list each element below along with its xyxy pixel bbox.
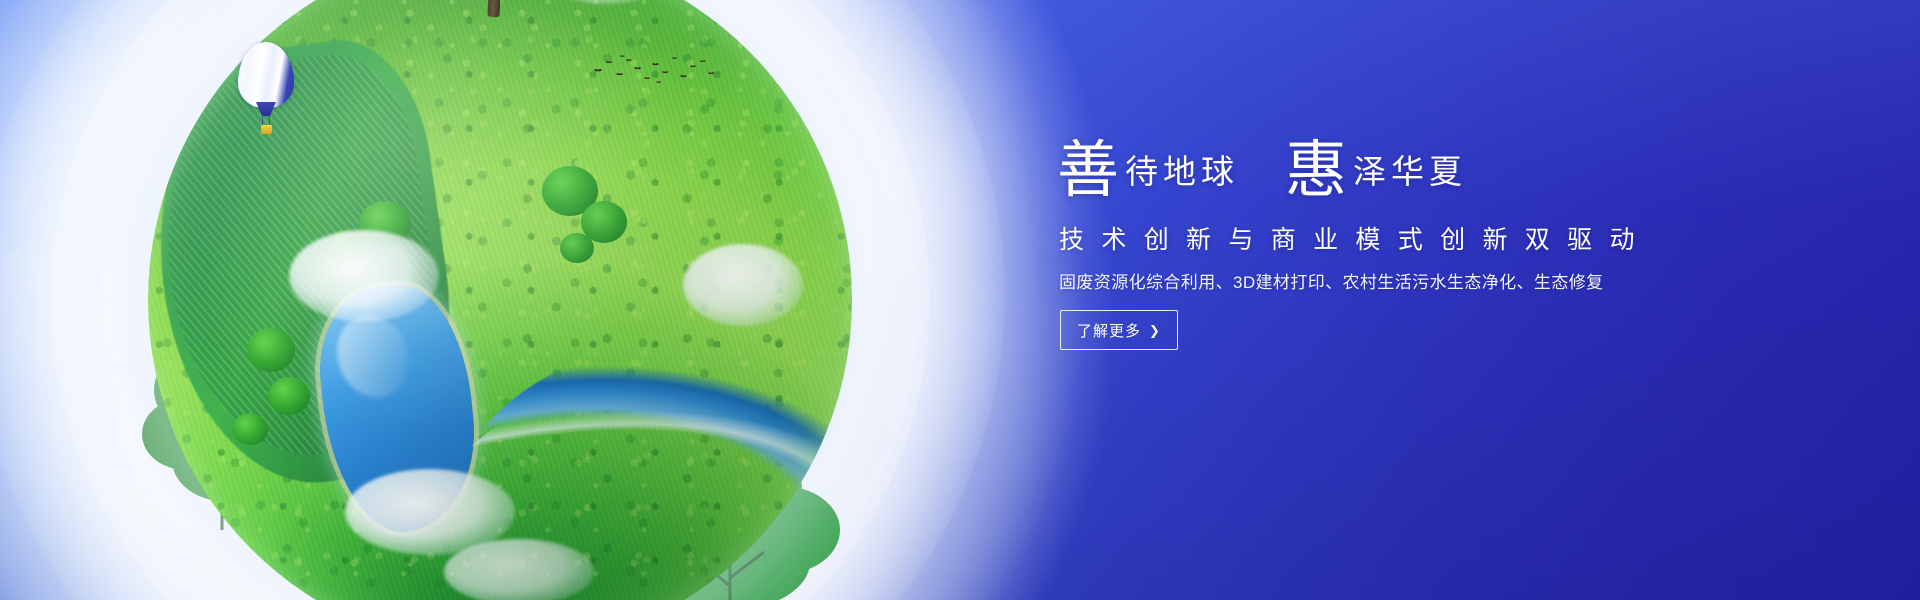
bird-flock-icon bbox=[590, 52, 720, 88]
headline-char-shan: 善 bbox=[1057, 137, 1119, 205]
learn-more-label: 了解更多 bbox=[1077, 320, 1141, 341]
chevron-right-icon: ❯ bbox=[1149, 324, 1161, 337]
learn-more-button[interactable]: 了解更多 ❯ bbox=[1060, 310, 1178, 350]
balloon-basket bbox=[261, 125, 272, 134]
description: 固废资源化综合利用、3D建材打印、农村生活污水生态净化、生态修复 bbox=[1059, 274, 1604, 291]
balloon-envelope bbox=[238, 42, 294, 108]
subtitle: 技 术 创 新 与 商 业 模 式 创 新 双 驱 动 bbox=[1059, 228, 1640, 253]
hero-text-block: 善待地球惠泽华夏 技 术 创 新 与 商 业 模 式 创 新 双 驱 动 固废资… bbox=[1057, 0, 1757, 600]
headline-char-hui: 惠 bbox=[1285, 137, 1347, 205]
headline-word-daidiqiu: 待地球 bbox=[1125, 155, 1239, 191]
hero-banner: 善待地球惠泽华夏 技 术 创 新 与 商 业 模 式 创 新 双 驱 动 固废资… bbox=[0, 0, 1920, 600]
headline-word-zehuaxia: 泽华夏 bbox=[1353, 155, 1467, 191]
hot-air-balloon-icon bbox=[238, 42, 294, 138]
headline: 善待地球惠泽华夏 bbox=[1057, 140, 1757, 220]
